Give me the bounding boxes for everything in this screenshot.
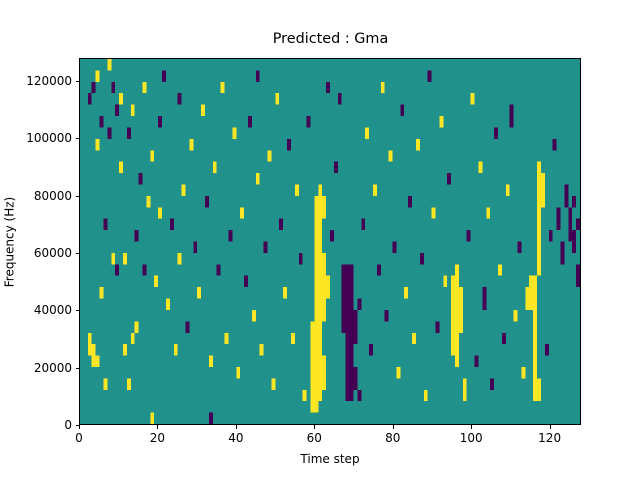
y-axis-label: Frequency (Hz) bbox=[0, 58, 18, 425]
y-tick-label: 60000 bbox=[34, 246, 72, 260]
x-tick-label: 80 bbox=[385, 431, 400, 445]
heatmap-image bbox=[80, 59, 580, 424]
y-tick-mark bbox=[76, 310, 80, 311]
x-tick-label: 40 bbox=[228, 431, 243, 445]
y-tick-mark bbox=[76, 253, 80, 254]
y-tick-label: 100000 bbox=[26, 131, 72, 145]
y-axis-label-text: Frequency (Hz) bbox=[2, 196, 16, 287]
y-tick-label: 20000 bbox=[34, 361, 72, 375]
x-tick-label: 0 bbox=[75, 431, 83, 445]
x-axis-label: Time step bbox=[79, 452, 581, 466]
x-tick-mark bbox=[157, 425, 158, 429]
heatmap-axes[interactable] bbox=[79, 58, 581, 425]
y-tick-label: 120000 bbox=[26, 74, 72, 88]
x-tick-label: 100 bbox=[460, 431, 483, 445]
y-tick-mark bbox=[76, 425, 80, 426]
y-tick-label: 40000 bbox=[34, 303, 72, 317]
figure-canvas: Predicted : Gma 020406080100120 02000040… bbox=[0, 0, 640, 480]
x-tick-mark bbox=[236, 425, 237, 429]
x-tick-mark bbox=[314, 425, 315, 429]
page-title: Predicted : Gma bbox=[79, 30, 582, 48]
x-tick-mark bbox=[393, 425, 394, 429]
y-tick-mark bbox=[76, 196, 80, 197]
y-tick-mark bbox=[76, 368, 80, 369]
y-tick-mark bbox=[76, 138, 80, 139]
x-tick-label: 20 bbox=[150, 431, 165, 445]
y-tick-mark bbox=[76, 81, 80, 82]
x-tick-label: 60 bbox=[307, 431, 322, 445]
y-tick-label: 0 bbox=[64, 418, 72, 432]
x-tick-mark bbox=[550, 425, 551, 429]
y-tick-label: 80000 bbox=[34, 189, 72, 203]
x-tick-mark bbox=[79, 425, 80, 429]
x-tick-mark bbox=[471, 425, 472, 429]
x-tick-label: 120 bbox=[538, 431, 561, 445]
